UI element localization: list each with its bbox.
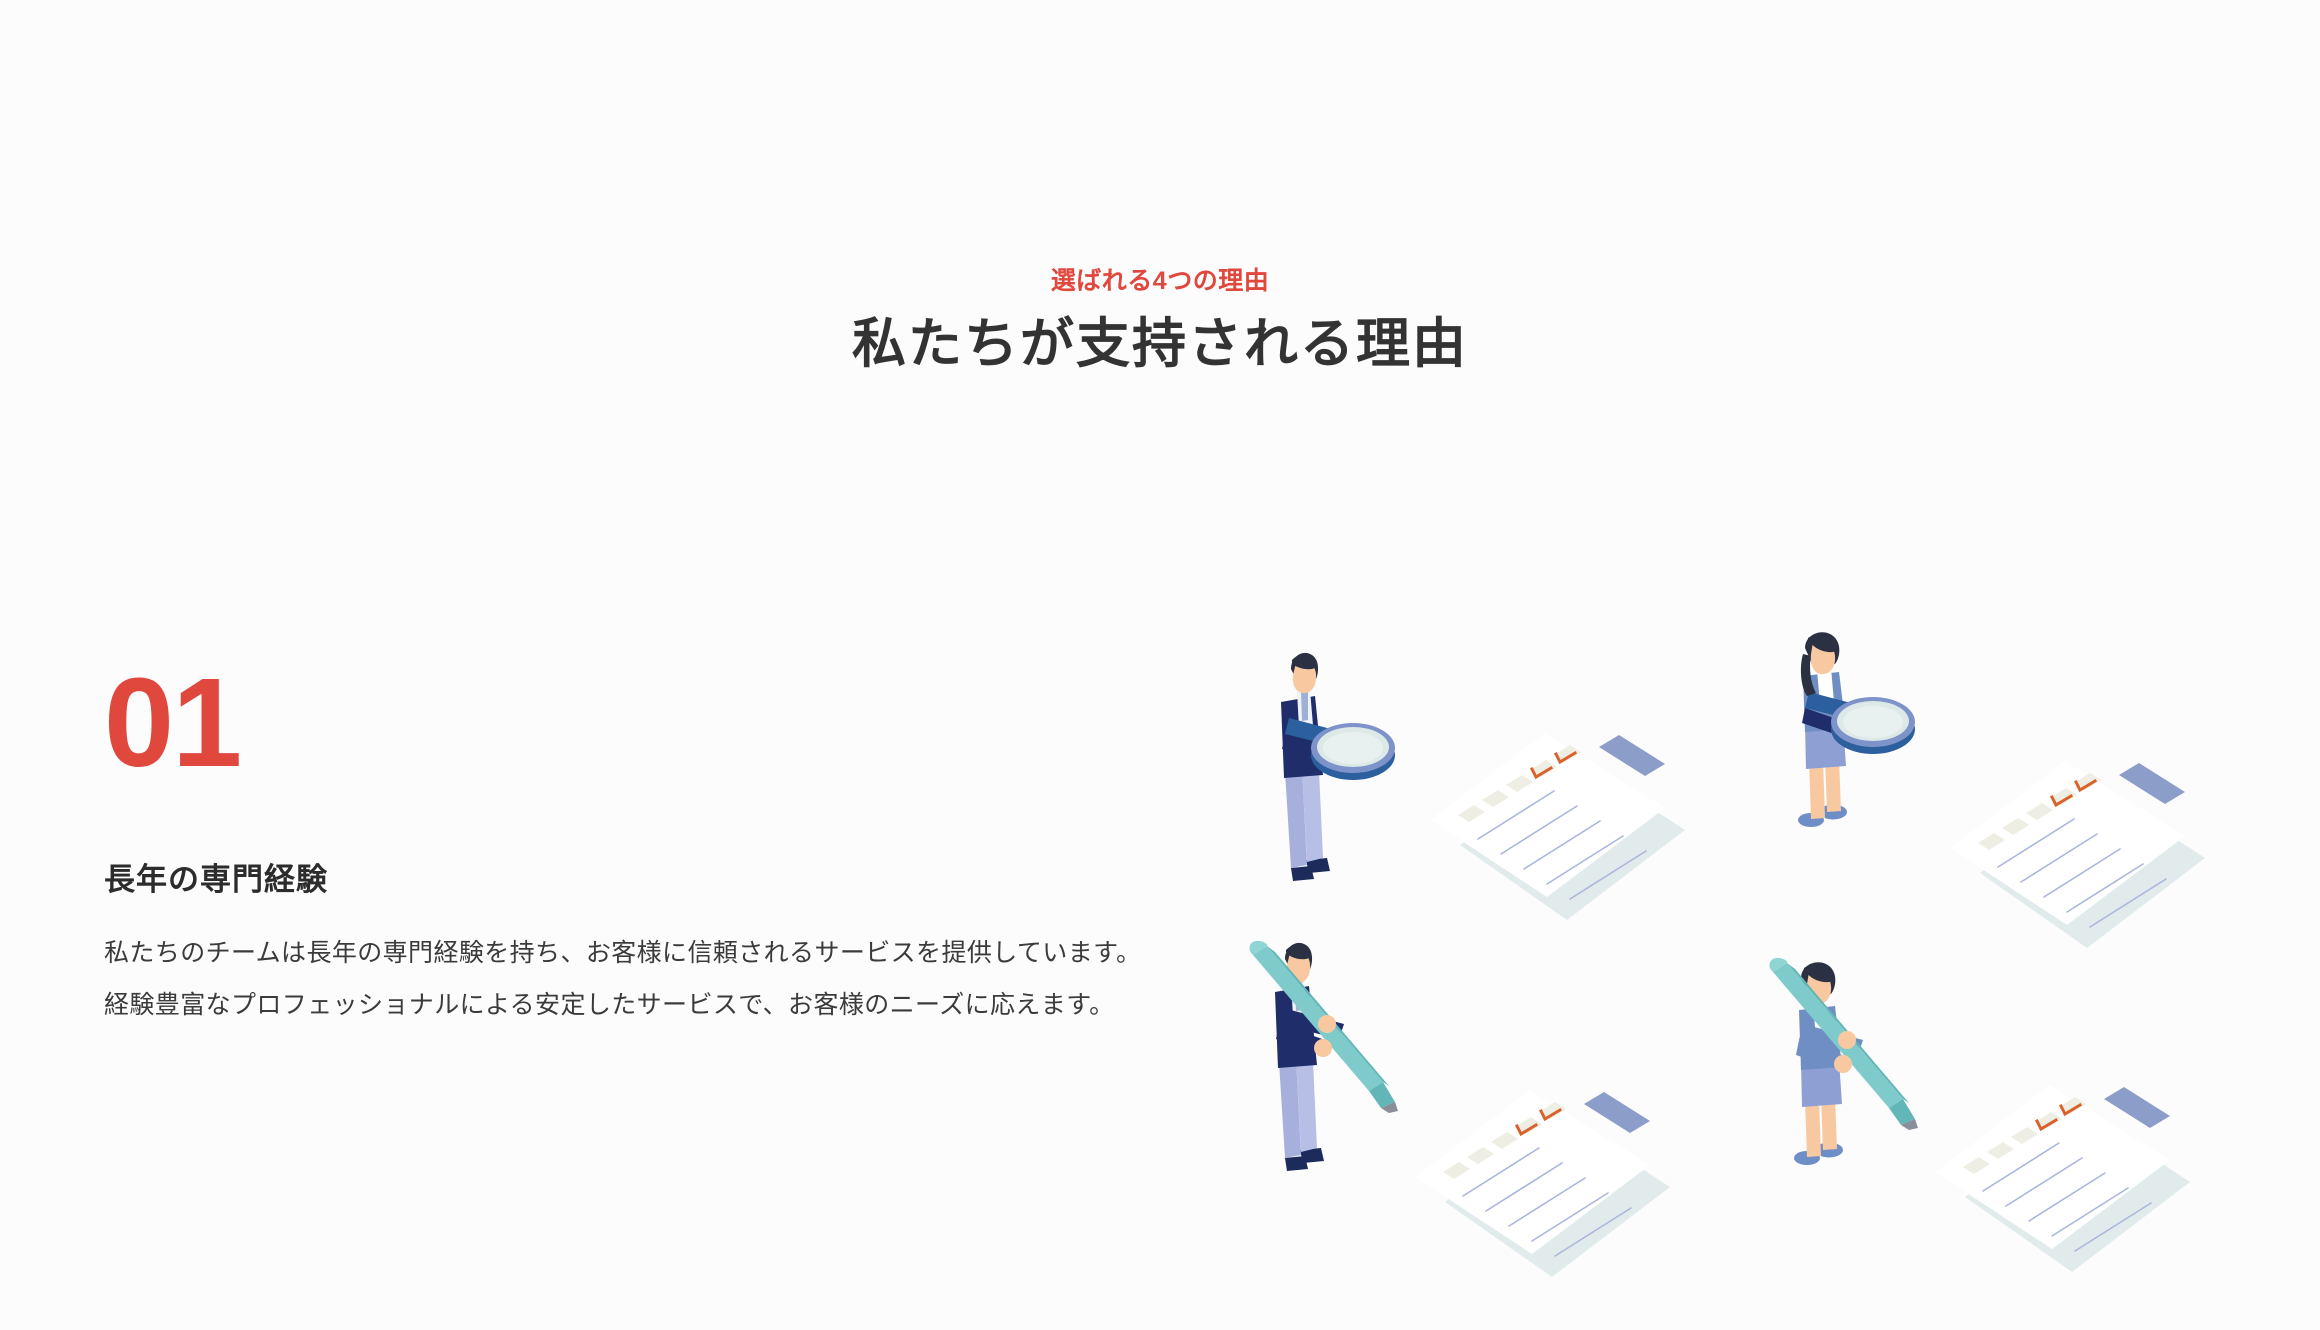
illustration-tile-man-magnifier bbox=[1255, 630, 1705, 960]
document-checklist-icon bbox=[1415, 1090, 1670, 1277]
illustration-grid bbox=[1255, 630, 2320, 1330]
step-number: 01 bbox=[104, 660, 1164, 786]
section-eyebrow: 選ばれる4つの理由 bbox=[0, 266, 2320, 297]
feature-description: 私たちのチームは長年の専門経験を持ち、お客様に信頼されるサービスを提供しています… bbox=[104, 928, 1144, 1031]
illustration-tile-man-pen bbox=[1255, 950, 1705, 1280]
person-man-pen-figure bbox=[1249, 941, 1398, 1171]
section-header: 選ばれる4つの理由 私たちが支持される理由 bbox=[0, 266, 2320, 379]
illustration-tile-woman-pen bbox=[1775, 950, 2225, 1280]
person-woman-pen-figure bbox=[1769, 958, 1918, 1165]
illustration-tile-woman-magnifier bbox=[1775, 630, 2225, 960]
person-woman-figure bbox=[1798, 632, 1915, 827]
document-checklist-icon bbox=[1935, 1085, 2190, 1272]
document-checklist-icon bbox=[1950, 761, 2205, 948]
person-man-figure bbox=[1281, 653, 1395, 881]
feature-title: 長年の専門経験 bbox=[104, 860, 1164, 900]
document-checklist-icon bbox=[1430, 733, 1685, 920]
page-title: 私たちが支持される理由 bbox=[0, 311, 2320, 379]
feature-content-block: 01 長年の専門経験 私たちのチームは長年の専門経験を持ち、お客様に信頼されるサ… bbox=[104, 660, 1164, 1031]
